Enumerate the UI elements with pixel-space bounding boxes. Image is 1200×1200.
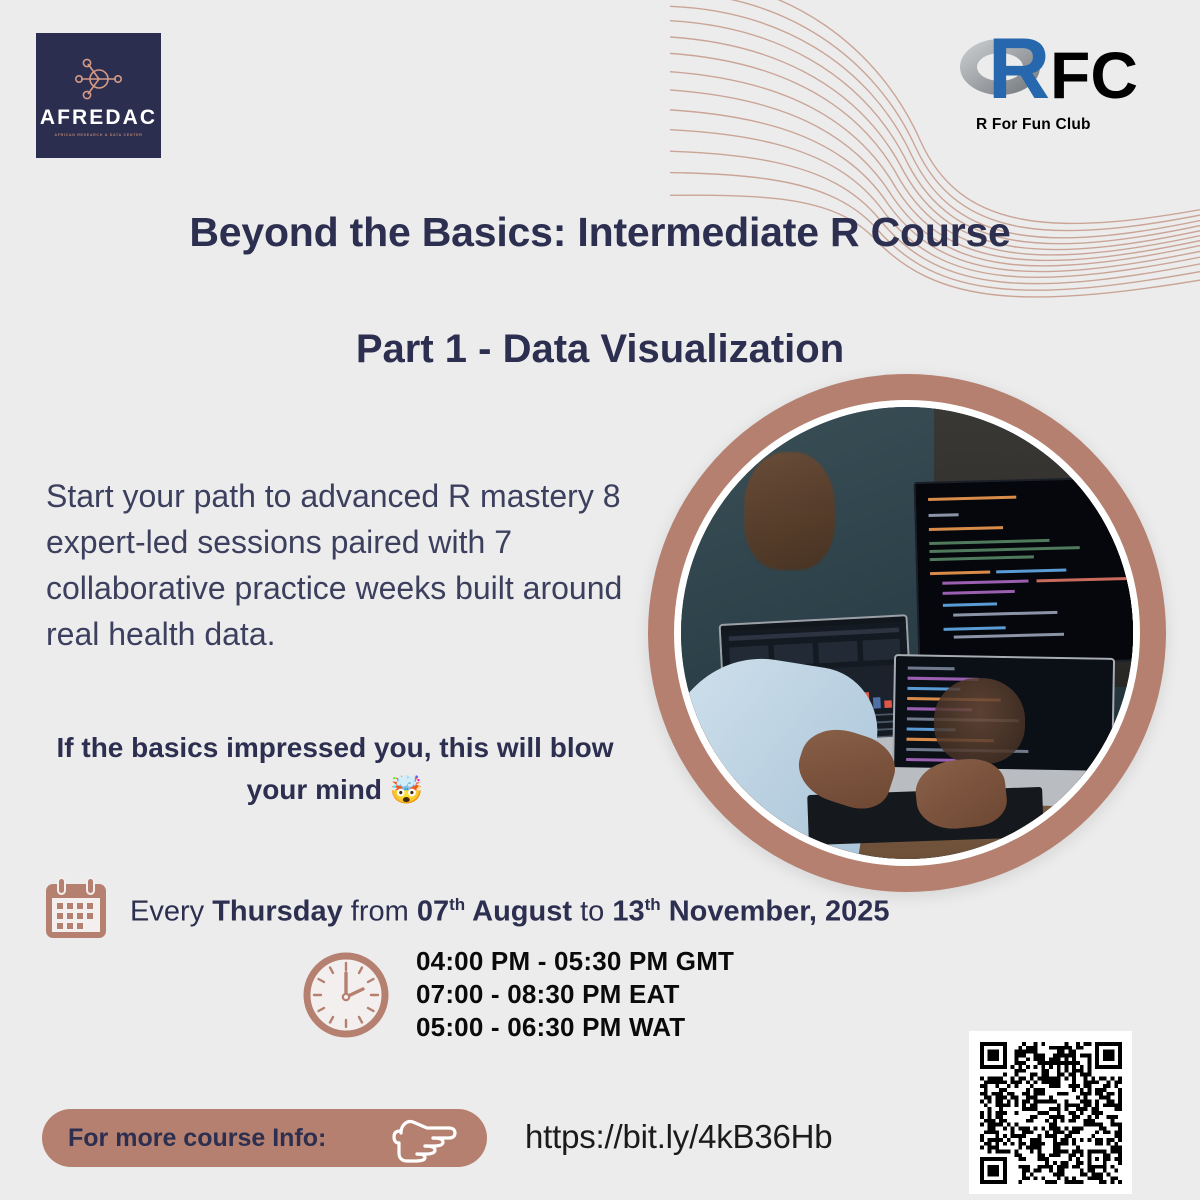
rfc-logo: R FC R For Fun Club [958,28,1158,138]
time-row: 04:00 PM - 05:30 PM GMT 07:00 - 08:30 PM… [302,945,734,1044]
date-start-month: August [465,895,572,927]
afredac-wordmark: AFREDAC [40,107,157,128]
time-gmt: 04:00 PM - 05:30 PM GMT [416,945,734,978]
developer-workstation-photo [674,400,1140,866]
page-title: Beyond the Basics: Intermediate R Course [100,205,1100,260]
date-day: Thursday [212,895,343,927]
exploding-head-emoji: 🤯 [390,775,424,805]
date-start-suffix: th [449,895,465,914]
tagline-copy: If the basics impressed you, this will b… [56,732,613,805]
rfc-tagline: R For Fun Club [976,116,1091,134]
qr-code-icon[interactable] [969,1031,1132,1194]
clock-icon [302,951,390,1039]
date-end-suffix: th [645,895,661,914]
rfc-wordmark-row: R FC [958,28,1158,110]
code-monitor [914,476,1140,667]
date-row: Every Thursday from 07th August to 13th … [40,872,890,944]
more-info-button[interactable]: For more course Info: [42,1109,487,1167]
schedule-date-text: Every Thursday from 07th August to 13th … [130,888,890,929]
date-end-month: November, 2025 [661,895,890,927]
tagline-text: If the basics impressed you, this will b… [40,727,630,811]
page-subtitle: Part 1 - Data Visualization [100,323,1100,375]
rfc-letter-r: R [988,28,1050,110]
calendar-icon [40,872,112,944]
poster-canvas: AFREDAC AFRICAN RESEARCH & DATA CENTER R… [0,0,1200,1200]
time-list: 04:00 PM - 05:30 PM GMT 07:00 - 08:30 PM… [416,945,734,1044]
more-info-label: For more course Info: [68,1124,326,1153]
afredac-logo: AFREDAC AFRICAN RESEARCH & DATA CENTER [36,33,161,158]
course-url[interactable]: https://bit.ly/4kB36Hb [525,1116,832,1158]
lead-paragraph: Start your path to advanced R mastery 8 … [46,473,656,657]
time-eat: 07:00 - 08:30 PM EAT [416,978,734,1011]
date-mid: from [343,895,417,927]
time-wat: 05:00 - 06:30 PM WAT [416,1011,734,1044]
rfc-letters-fc: FC [1050,40,1138,110]
photo-ring-frame [648,374,1166,892]
date-start-day: 07 [417,895,449,927]
date-end-day: 13 [612,895,644,927]
molecule-network-icon [68,54,130,104]
pointing-hand-icon [389,1113,461,1163]
afredac-tagline: AFRICAN RESEARCH & DATA CENTER [54,133,142,137]
date-prefix: Every [130,895,212,927]
qr-canvas [980,1042,1122,1184]
date-to: to [572,895,612,927]
